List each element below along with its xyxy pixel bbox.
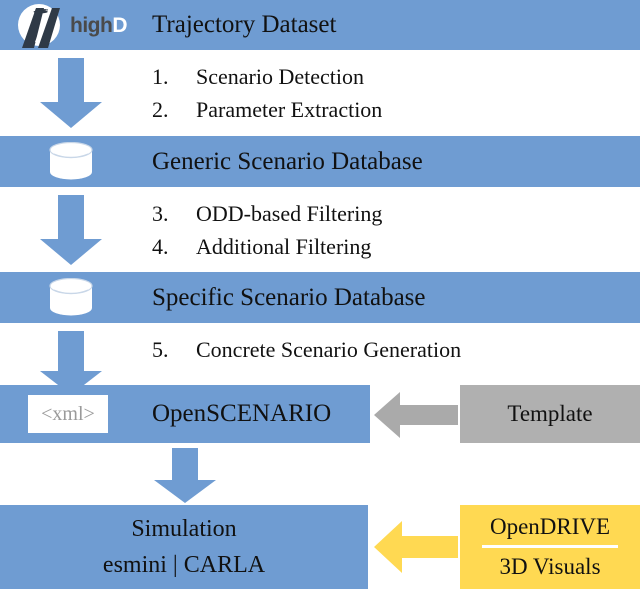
step-item: 2. Parameter Extraction: [152, 93, 382, 126]
step-label: Parameter Extraction: [196, 93, 382, 126]
arrow-down-step-1-2: [36, 58, 106, 130]
step-group-generation: 5. Concrete Scenario Generation: [152, 333, 461, 366]
step-label: Additional Filtering: [196, 230, 371, 263]
step-item: 4. Additional Filtering: [152, 230, 382, 263]
step-label: ODD-based Filtering: [196, 197, 382, 230]
step-item: 3. ODD-based Filtering: [152, 197, 382, 230]
generic-database-title: Generic Scenario Database: [152, 148, 423, 176]
template-label: Template: [507, 401, 592, 427]
database-cylinder-icon: [44, 278, 98, 318]
highd-logo: highD: [14, 2, 72, 48]
step-number: 4.: [152, 230, 196, 263]
arrow-down-step-3-4: [36, 195, 106, 267]
openscenario-title: OpenSCENARIO: [152, 400, 331, 428]
openscenario-band: <xml> OpenSCENARIO: [0, 385, 370, 443]
simulation-box: Simulation esmini | CARLA: [0, 505, 368, 589]
arrow-left-icon: [374, 521, 458, 573]
arrow-down-to-simulation: [150, 448, 220, 504]
step-label: Scenario Detection: [196, 60, 364, 93]
step-number: 3.: [152, 197, 196, 230]
logo-text-high: high: [70, 14, 112, 37]
step-number: 5.: [152, 333, 196, 366]
opendrive-box: OpenDRIVE 3D Visuals: [460, 505, 640, 589]
specific-scenario-database-band: Specific Scenario Database: [0, 272, 640, 323]
opendrive-divider: [482, 545, 618, 548]
simulation-title: Simulation: [0, 511, 368, 547]
opendrive-title: OpenDRIVE: [460, 510, 640, 544]
step-item: 5. Concrete Scenario Generation: [152, 333, 461, 366]
arrow-left-icon: [374, 392, 458, 438]
generic-scenario-database-band: Generic Scenario Database: [0, 136, 640, 187]
drone-over-highway-icon: [14, 2, 72, 48]
xml-file-label: <xml>: [41, 403, 95, 426]
page-title: Trajectory Dataset: [152, 11, 336, 39]
step-group-filtering: 3. ODD-based Filtering 4. Additional Fil…: [152, 197, 382, 263]
step-number: 1.: [152, 60, 196, 93]
specific-database-title: Specific Scenario Database: [152, 284, 426, 312]
simulation-tools: esmini | CARLA: [0, 547, 368, 583]
header-band: highD Trajectory Dataset: [0, 0, 640, 50]
step-number: 2.: [152, 93, 196, 126]
pipeline-diagram: highD Trajectory Dataset 1. Scenario Det…: [0, 0, 640, 589]
step-label: Concrete Scenario Generation: [196, 333, 461, 366]
template-box: Template: [460, 385, 640, 443]
logo-wordmark: highD: [70, 14, 127, 38]
step-item: 1. Scenario Detection: [152, 60, 382, 93]
logo-text-d: D: [112, 14, 127, 37]
step-group-detection: 1. Scenario Detection 2. Parameter Extra…: [152, 60, 382, 126]
database-cylinder-icon: [44, 142, 98, 182]
opendrive-subtitle: 3D Visuals: [460, 550, 640, 584]
xml-file-icon: <xml>: [28, 395, 108, 433]
